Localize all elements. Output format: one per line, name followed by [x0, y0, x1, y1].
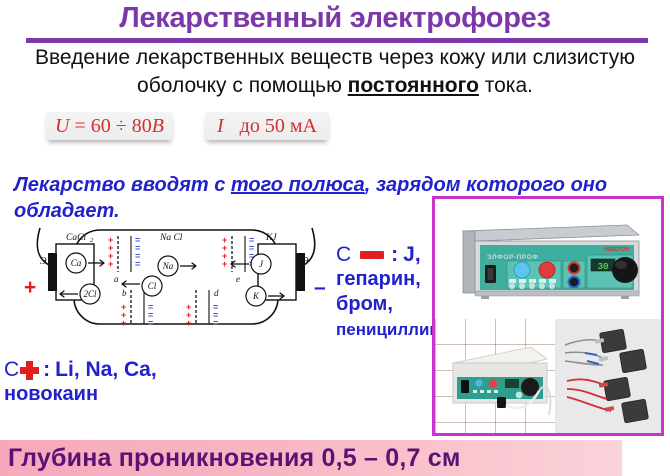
svg-text:+: + [186, 318, 191, 328]
depth-banner: Глубина проникновения 0,5 – 0,7 см [0, 440, 622, 476]
negative-pole-colon: : [391, 243, 398, 267]
electrophoresis-cell-diagram: Э Э + – CaCl 2 Na Cl KJ a ++++ ==== b [18, 222, 334, 332]
svg-text:Э: Э [302, 256, 309, 267]
device-photos-panel: НЕВОТОН ЭЛФОР-ПРОФ [432, 196, 664, 436]
list-item: новокаин [4, 382, 254, 407]
negative-pole-header: С : J, [336, 243, 446, 267]
positive-pole-substances: С : Li, Na, Ca, новокаин [4, 358, 254, 407]
svg-text:ЭЛФОР-ПРОФ: ЭЛФОР-ПРОФ [487, 254, 539, 261]
list-item: бром, [336, 292, 446, 317]
current-formula-box: I до 50 мА [205, 112, 329, 140]
svg-text:K: K [252, 291, 260, 301]
negative-pole-first-item: J, [403, 243, 421, 267]
current-value: 50 [265, 115, 285, 138]
svg-text:Na Cl: Na Cl [159, 233, 183, 243]
definition-paragraph: Введение лекарственных веществ через кож… [0, 44, 670, 100]
positive-pole-prefix: С [4, 358, 19, 382]
svg-text:НЕВОТОН: НЕВОТОН [604, 247, 629, 253]
svg-text:=: = [148, 318, 153, 328]
svg-text:d: d [214, 288, 219, 298]
voltage-value: 60 ÷ 80 [91, 115, 152, 138]
minus-bar-icon [360, 251, 384, 259]
voltage-unit: B [152, 115, 164, 138]
svg-text:KJ: KJ [265, 233, 277, 243]
voltage-formula-box: U = 60 ÷ 80 B [46, 112, 173, 140]
svg-text:Э: Э [40, 256, 47, 267]
depth-banner-text: Глубина проникновения 0,5 – 0,7 см [0, 444, 461, 473]
svg-text:Na: Na [162, 261, 174, 271]
svg-text:a: a [114, 274, 119, 284]
svg-text:+: + [108, 259, 113, 269]
svg-text:=: = [213, 318, 218, 328]
voltage-operator: = [74, 115, 85, 138]
positive-pole-first-item: Li, Na, Ca, [55, 358, 157, 382]
positive-pole-colon: : [43, 358, 50, 382]
rule-underlined: того полюса [231, 174, 365, 196]
title-underline [26, 38, 648, 43]
page-title: Лекарственный электрофорез [0, 2, 670, 35]
red-plus-icon [20, 361, 39, 380]
current-unit: мА [290, 115, 317, 138]
svg-text:2Cl: 2Cl [83, 289, 97, 299]
svg-text:=: = [135, 259, 140, 269]
slide-root: Лекарственный электрофорез Введение лека… [0, 0, 670, 476]
list-item: пенициллин, [336, 317, 446, 342]
current-symbol: I [217, 115, 224, 138]
banner-right-filler [622, 440, 670, 476]
rule-before: Лекарство вводят с [14, 174, 231, 196]
definition-part1: Введение лекарственных веществ через кож… [35, 46, 635, 97]
svg-text:+: + [24, 276, 36, 299]
svg-text:–: – [314, 276, 326, 299]
definition-emphasis: постоянного [348, 74, 479, 97]
current-qualifier: до [240, 115, 260, 138]
svg-text:30: 30 [598, 262, 609, 272]
definition-part2: тока. [479, 74, 533, 97]
svg-text:+: + [121, 318, 126, 328]
electrophoresis-device-with-electrodes-photo [435, 319, 661, 433]
voltage-symbol: U [55, 115, 69, 138]
svg-text:CaCl: CaCl [66, 233, 86, 243]
negative-pole-prefix: С [336, 243, 351, 267]
svg-text:e: e [236, 274, 240, 284]
svg-text:Cl: Cl [148, 281, 157, 291]
negative-pole-substances: С : J, гепарин, бром, пенициллин, [336, 243, 446, 342]
svg-text:+: + [222, 259, 227, 269]
svg-text:b: b [122, 288, 127, 298]
positive-pole-header: С : Li, Na, Ca, [4, 358, 254, 382]
elfor-prof-device-photo: НЕВОТОН ЭЛФОР-ПРОФ [435, 199, 661, 319]
list-item: гепарин, [336, 267, 446, 292]
svg-text:Ca: Ca [71, 258, 82, 268]
